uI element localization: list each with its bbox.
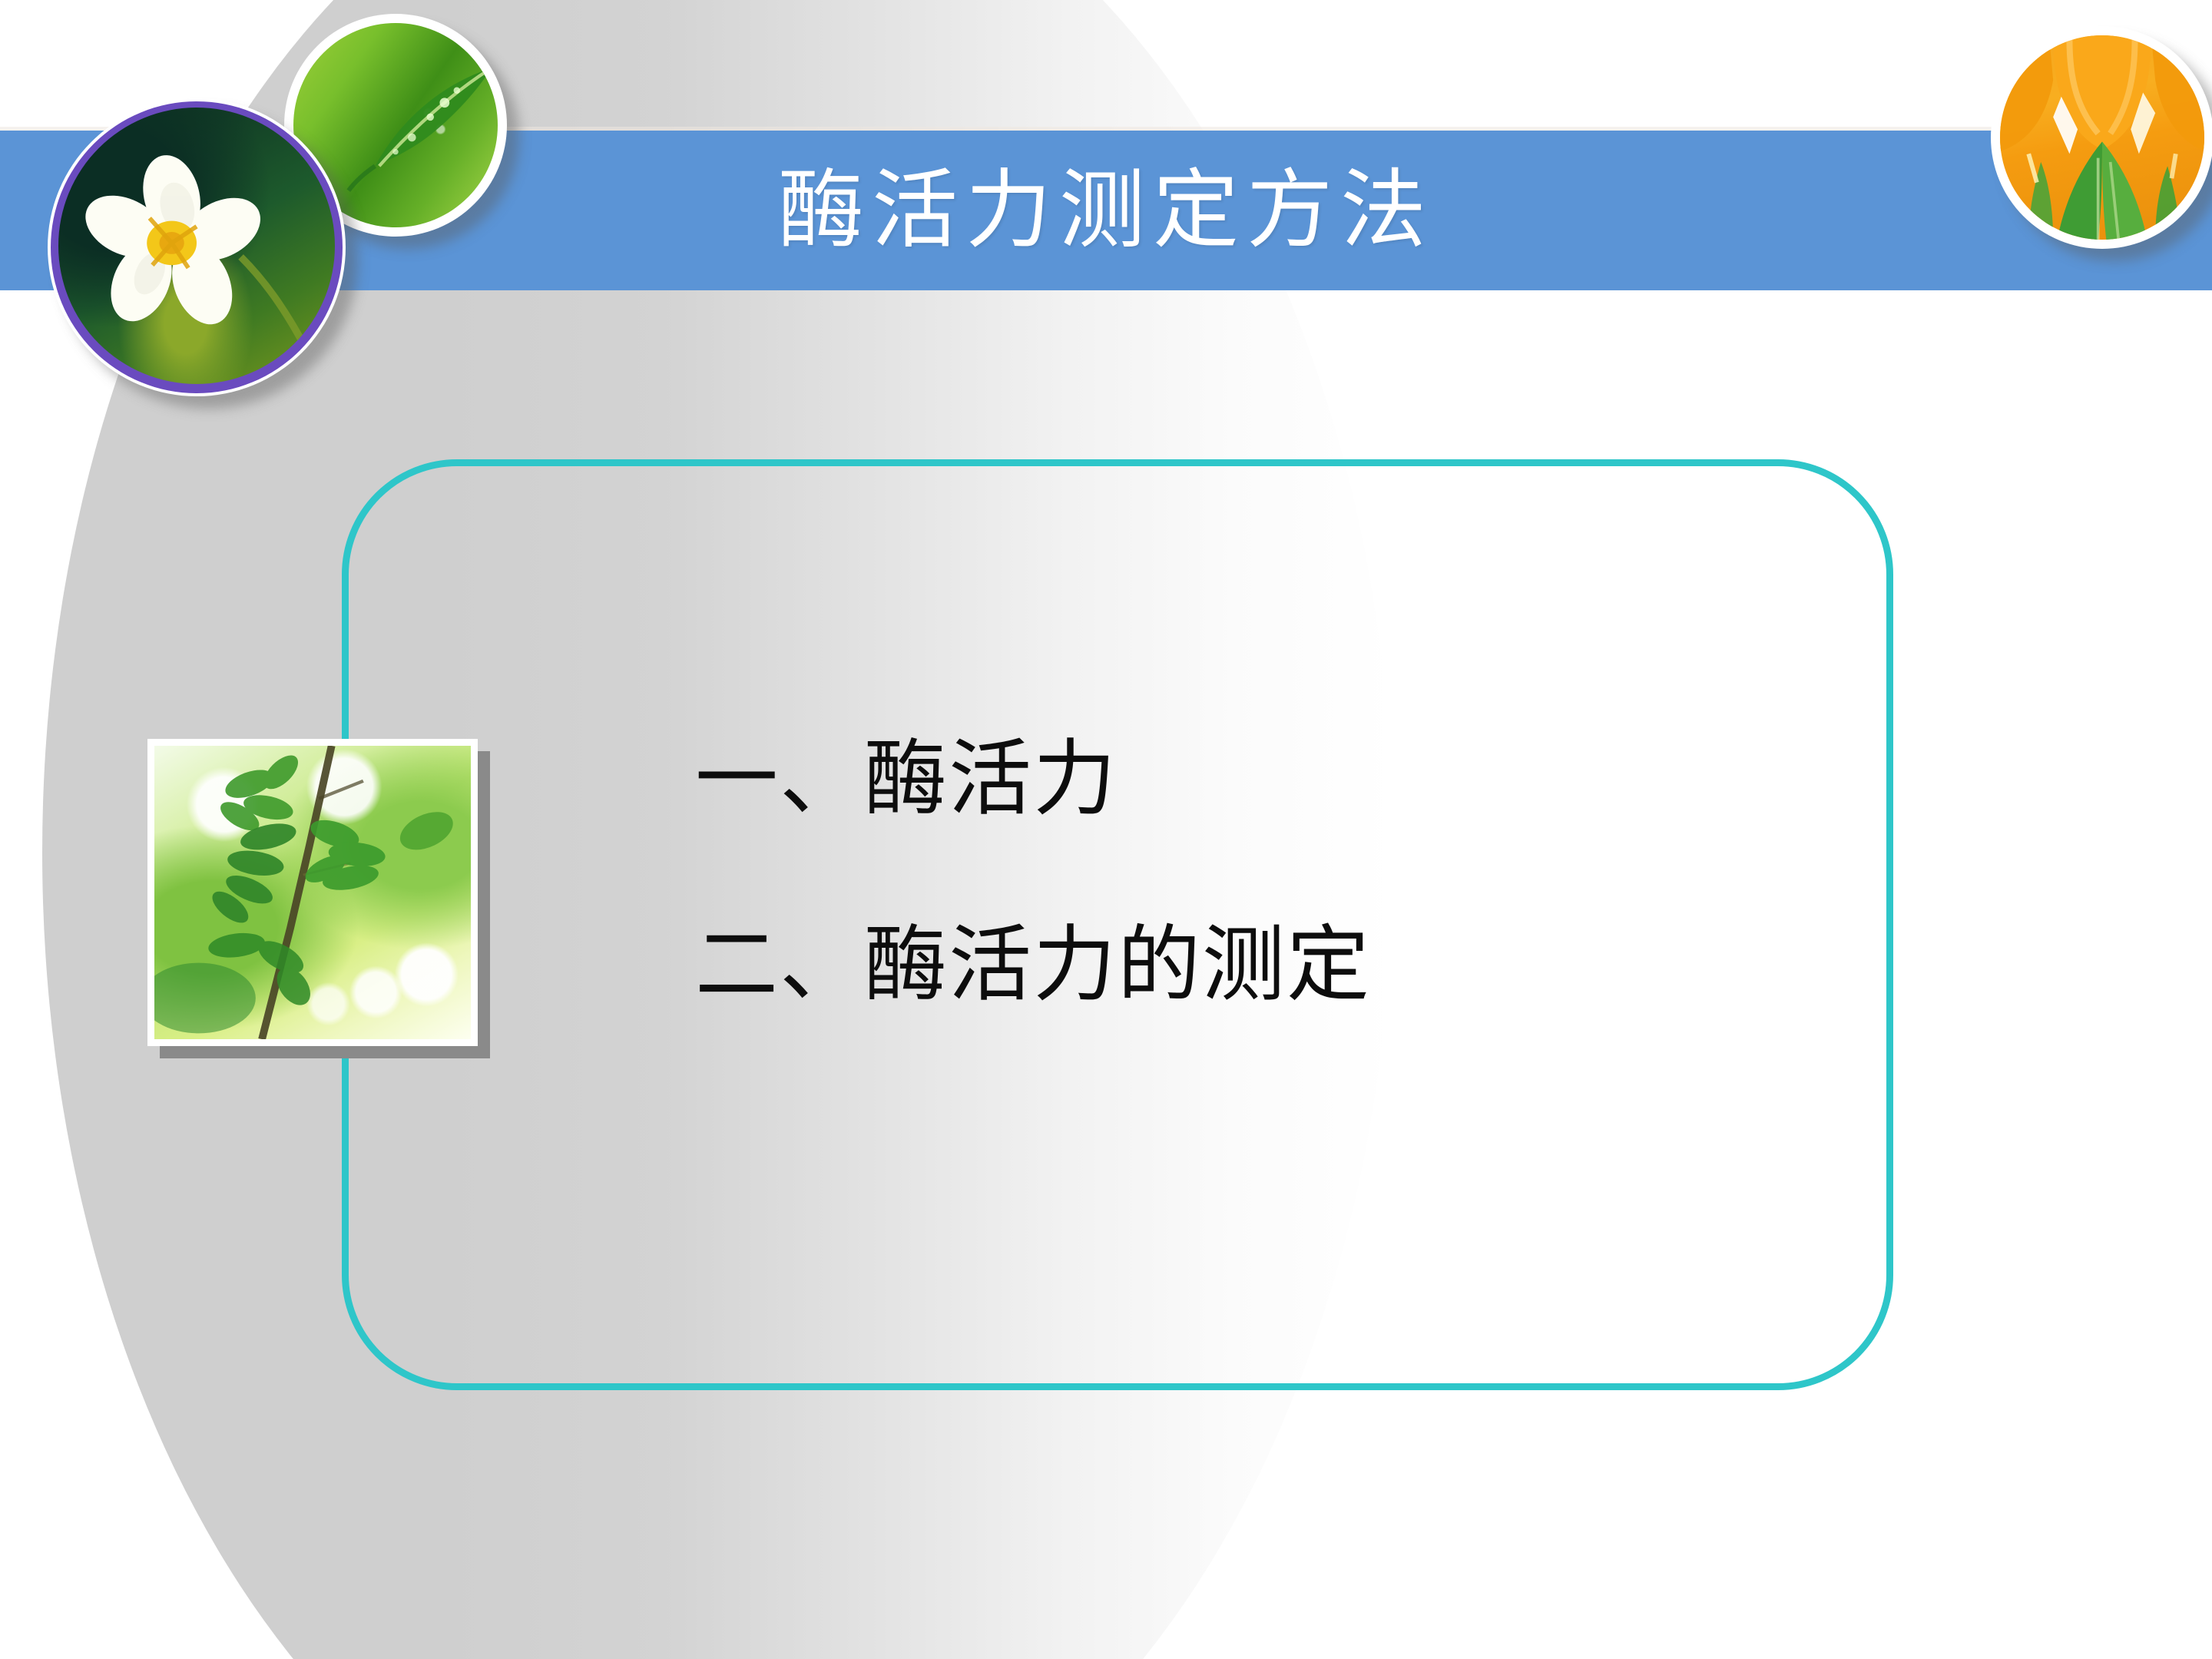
photo-image-area	[154, 746, 471, 1039]
tulip-illustration	[2000, 35, 2204, 240]
green-leaves-photo	[147, 739, 478, 1046]
presentation-slide: 酶活力测定方法 一、酶活力 二、酶活力的测定	[0, 0, 2212, 1659]
leaves-branch-illustration	[154, 746, 471, 1039]
list-item: 一、酶活力	[695, 737, 1847, 822]
photo-white-frame	[147, 739, 478, 1046]
plumeria-illustration	[58, 108, 335, 384]
yellow-tulip-icon	[2000, 35, 2204, 240]
list-item: 二、酶活力的测定	[695, 923, 1847, 1008]
content-list: 一、酶活力 二、酶活力的测定	[695, 737, 1847, 1008]
plumeria-flower-icon	[58, 108, 335, 384]
